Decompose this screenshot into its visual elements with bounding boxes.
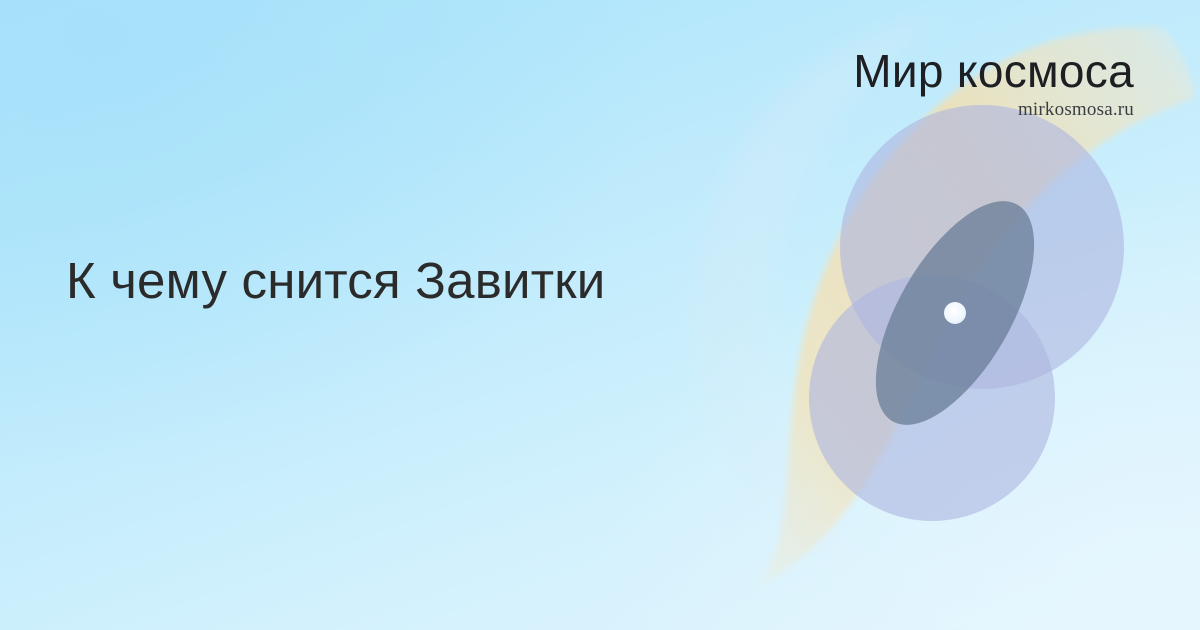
brand-block: Мир космоса mirkosmosa.ru — [714, 48, 1134, 121]
social-share-card: Мир космоса mirkosmosa.ru К чему снится … — [0, 0, 1200, 630]
brand-name: Мир космоса — [714, 48, 1134, 94]
core-dot-shape — [944, 302, 966, 324]
page-title: К чему снится Завитки — [66, 252, 666, 309]
brand-url: mirkosmosa.ru — [714, 99, 1134, 121]
